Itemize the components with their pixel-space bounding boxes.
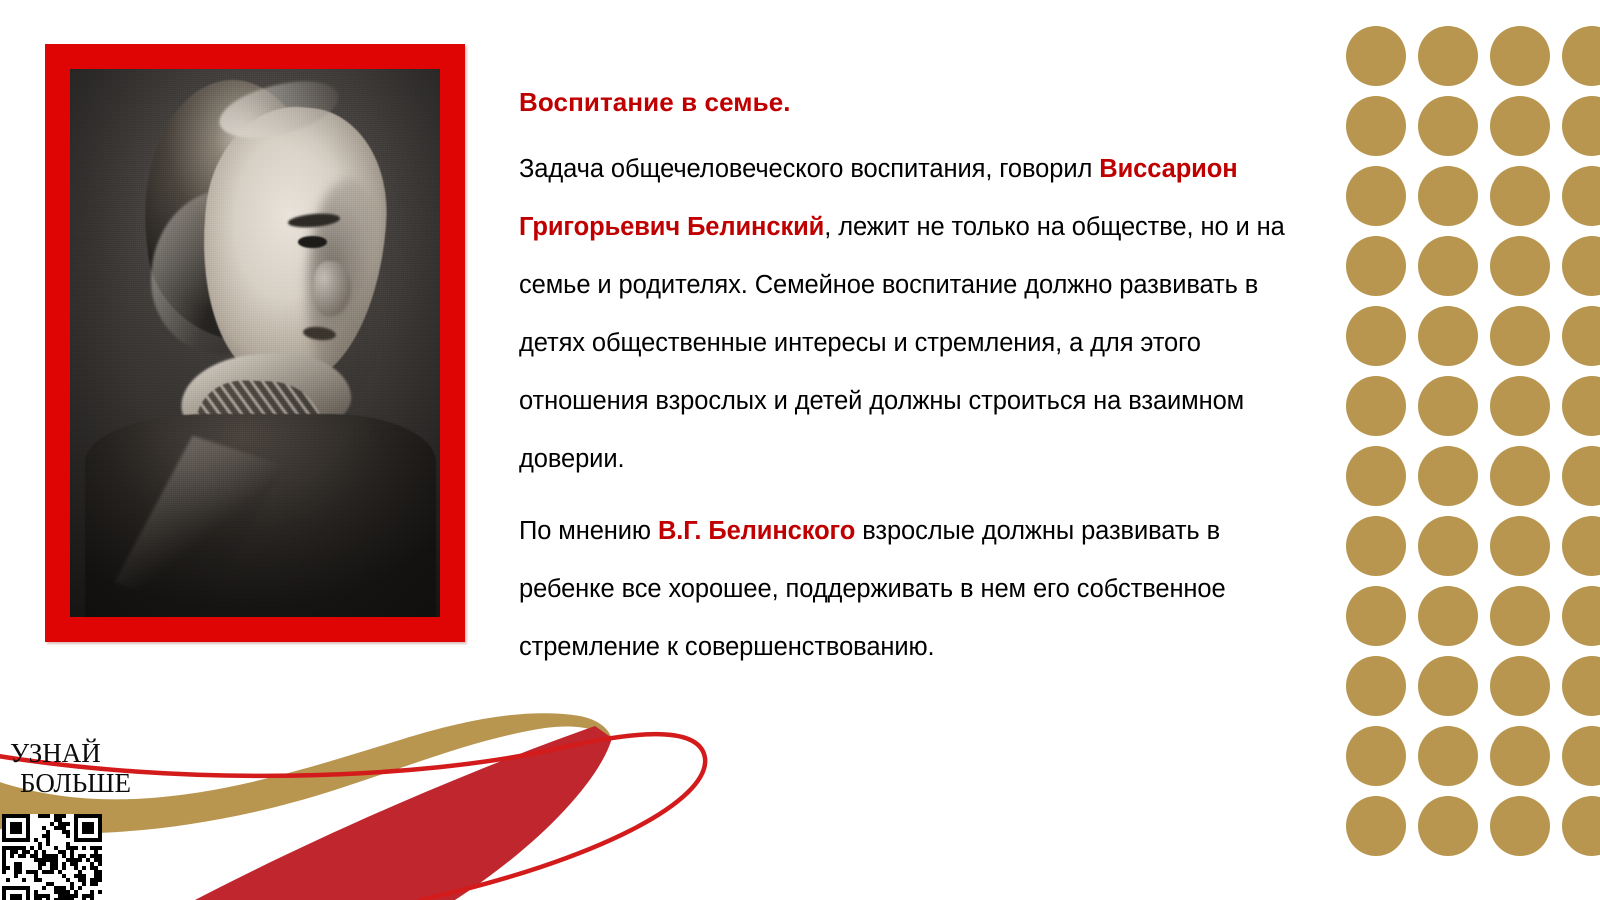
portrait-image-belinsky	[70, 69, 440, 617]
gold-dot	[1562, 376, 1600, 436]
paragraph-text-0: Задача общечеловеческого воспитания, гов…	[519, 155, 1099, 183]
gold-dot	[1562, 446, 1600, 506]
gold-dot	[1346, 516, 1406, 576]
gold-dot	[1490, 306, 1550, 366]
gold-dot	[1562, 586, 1600, 646]
gold-dot	[1562, 656, 1600, 716]
gold-dot	[1562, 166, 1600, 226]
gold-dot	[1490, 796, 1550, 856]
gold-dot	[1490, 96, 1550, 156]
portrait-vignette	[70, 69, 440, 617]
paragraph-text-2: , лежит не только на обществе, но и на с…	[519, 213, 1285, 473]
gold-dot	[1418, 586, 1478, 646]
gold-dot	[1346, 166, 1406, 226]
gold-dot	[1346, 236, 1406, 296]
gold-dot	[1346, 306, 1406, 366]
gold-dot	[1346, 726, 1406, 786]
gold-dot	[1562, 306, 1600, 366]
gold-dot-grid	[1346, 26, 1600, 871]
gold-dot	[1418, 656, 1478, 716]
gold-dot	[1346, 26, 1406, 86]
gold-dot	[1418, 96, 1478, 156]
gold-dot	[1490, 446, 1550, 506]
gold-dot	[1490, 166, 1550, 226]
paragraph-text-0: По мнению	[519, 517, 658, 545]
gold-dot	[1418, 446, 1478, 506]
gold-dot	[1490, 656, 1550, 716]
gold-dot	[1346, 796, 1406, 856]
gold-dot	[1562, 96, 1600, 156]
gold-dot	[1562, 26, 1600, 86]
gold-dot	[1346, 586, 1406, 646]
gold-dot	[1346, 376, 1406, 436]
gold-dot	[1490, 586, 1550, 646]
learn-more-label: УЗНАЙ БОЛЬШЕ	[10, 738, 180, 798]
gold-dot	[1490, 26, 1550, 86]
paragraph-one: Задача общечеловеческого воспитания, гов…	[519, 140, 1319, 488]
gold-dot	[1418, 26, 1478, 86]
slide-canvas: Воспитание в семье. Задача общечеловечес…	[0, 0, 1600, 900]
gold-dot	[1562, 516, 1600, 576]
gold-dot	[1418, 516, 1478, 576]
gold-dot	[1346, 446, 1406, 506]
portrait-frame	[45, 44, 465, 642]
gold-dot	[1490, 516, 1550, 576]
gold-dot	[1562, 796, 1600, 856]
gold-dot	[1418, 166, 1478, 226]
highlighted-name: В.Г. Белинского	[658, 517, 855, 545]
crimson-ribbon-shape	[195, 726, 612, 900]
learn-more-line-2: БОЛЬШЕ	[10, 768, 180, 798]
gold-dot	[1562, 726, 1600, 786]
section-heading: Воспитание в семье.	[519, 82, 1319, 122]
gold-dot	[1562, 236, 1600, 296]
gold-dot	[1418, 796, 1478, 856]
gold-dot	[1418, 306, 1478, 366]
gold-dot	[1418, 376, 1478, 436]
gold-dot	[1346, 96, 1406, 156]
gold-dot	[1418, 726, 1478, 786]
gold-dot	[1490, 376, 1550, 436]
qr-code[interactable]	[2, 814, 102, 900]
paragraph-two: По мнению В.Г. Белинского взрослые должн…	[519, 502, 1319, 676]
learn-more-line-1: УЗНАЙ	[10, 738, 180, 768]
gold-dot	[1418, 236, 1478, 296]
gold-dot	[1490, 726, 1550, 786]
text-column: Воспитание в семье. Задача общечеловечес…	[519, 82, 1319, 690]
gold-dot	[1490, 236, 1550, 296]
gold-dot	[1346, 656, 1406, 716]
